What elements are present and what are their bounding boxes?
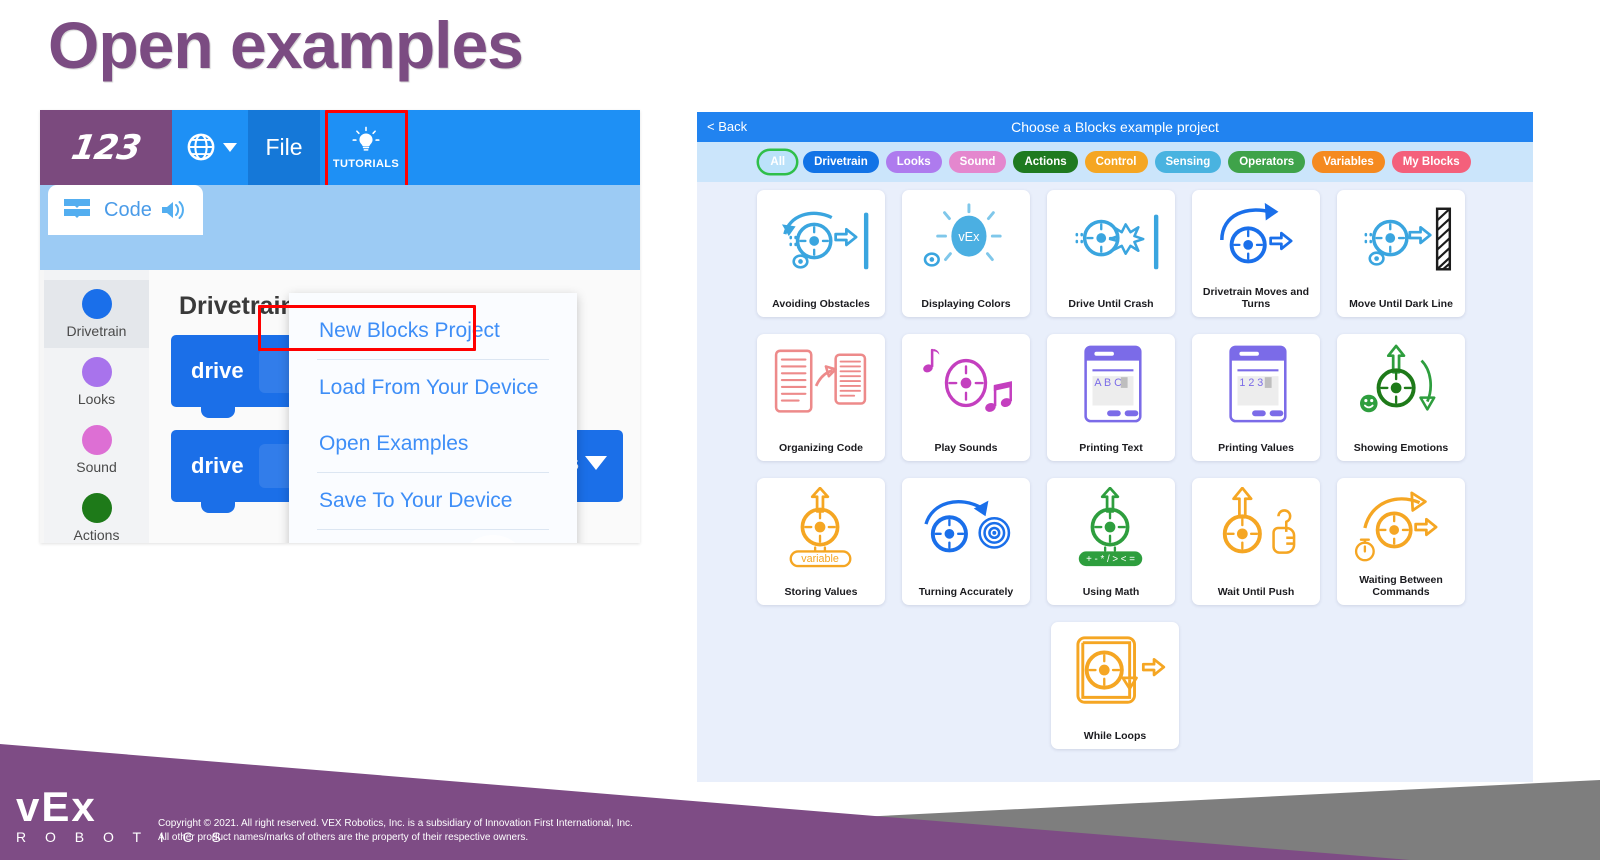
documents-arrow-red-icon (767, 343, 875, 425)
screen-123-icon: 1 2 3 (1202, 343, 1310, 425)
code-tab-label: Code (104, 199, 152, 222)
copyright-text: Copyright © 2021. All right reserved. VE… (158, 817, 633, 844)
filter-pill-variables[interactable]: Variables (1312, 151, 1385, 173)
menu-item-save-to-your-device[interactable]: Save To Your Device (289, 473, 577, 529)
blocks-icon (62, 197, 96, 223)
sidebar-item-label: Looks (78, 391, 115, 407)
math-chip-text: + - * / > < = (1086, 554, 1135, 565)
example-card-while-loops[interactable]: While Loops (1051, 622, 1179, 749)
example-card-label: Avoiding Obstacles (761, 298, 881, 310)
menu-item-label: Save To Your Device (319, 489, 512, 513)
robot-loop-orange-icon (1061, 631, 1169, 713)
robot-crash-blue-icon (1057, 199, 1165, 281)
speaker-icon (160, 199, 186, 221)
filter-pill-operators[interactable]: Operators (1228, 151, 1305, 173)
example-card-turning-accurately[interactable]: Turning Accurately (902, 478, 1030, 605)
example-card-label: Storing Values (761, 586, 881, 598)
robot-emoji-green-icon (1347, 343, 1455, 425)
vex-badge-rays-blue-icon: vEx (912, 199, 1020, 281)
screen-text: 1 2 3 (1239, 377, 1263, 389)
block-label: drive (191, 453, 244, 479)
example-card-drive-until-crash[interactable]: Drive Until Crash (1047, 190, 1175, 317)
menu-item-whats-new[interactable]: What's New (289, 530, 577, 543)
robot-arc-wall-blue-icon (767, 199, 875, 281)
menu-item-load-from-your-device[interactable]: Load From Your Device (289, 360, 577, 416)
vex-123-logo-text: 123 (68, 128, 143, 168)
dialog-title: Choose a Blocks example project (697, 112, 1533, 142)
example-card-organizing-code[interactable]: Organizing Code (757, 334, 885, 461)
sidebar-item-actions[interactable]: Actions (44, 484, 149, 543)
filter-pill-sound[interactable]: Sound (949, 151, 1007, 173)
example-card-using-math[interactable]: + - * / > < = Using Math (1047, 478, 1175, 605)
example-card-label: Waiting Between Commands (1341, 574, 1461, 598)
filter-pill-label: My Blocks (1403, 156, 1460, 168)
example-card-label: Drivetrain Moves and Turns (1196, 286, 1316, 310)
menu-item-label: Load From Your Device (319, 376, 538, 400)
tutorials-highlight-box (325, 110, 408, 188)
example-card-displaying-colors[interactable]: vEx Displaying (902, 190, 1030, 317)
sidebar-item-sound[interactable]: Sound (44, 416, 149, 484)
open-examples-highlight-box (258, 305, 476, 351)
robot-music-notes-icon (912, 343, 1020, 425)
language-selector[interactable] (186, 132, 237, 162)
sidebar-item-label: Drivetrain (67, 323, 127, 339)
sidebar-item-label: Sound (76, 459, 116, 475)
filter-pill-looks[interactable]: Looks (886, 151, 942, 173)
filter-pill-label: Actions (1024, 156, 1066, 168)
example-card-label: Showing Emotions (1341, 442, 1461, 454)
actions-dot-icon (82, 493, 112, 523)
example-card-label: Move Until Dark Line (1341, 298, 1461, 310)
example-card-label: Organizing Code (761, 442, 881, 454)
example-card-printing-values[interactable]: 1 2 3 Printing Values (1192, 334, 1320, 461)
filter-pill-label: Control (1096, 156, 1137, 168)
filter-pill-control[interactable]: Control (1085, 151, 1148, 173)
category-sidebar: Drivetrain Looks Sound Actions (44, 270, 149, 543)
filter-pill-label: Looks (897, 156, 931, 168)
example-card-label: Turning Accurately (906, 586, 1026, 598)
sidebar-item-looks[interactable]: Looks (44, 348, 149, 416)
examples-row: Avoiding Obstacles vEx (757, 190, 1533, 317)
slide-footer: vEx R O B O T I C S Copyright © 2021. Al… (0, 735, 1600, 860)
examples-grid: Avoiding Obstacles vEx (697, 182, 1533, 749)
file-menu-button[interactable]: File (248, 110, 320, 185)
filter-pill-my-blocks[interactable]: My Blocks (1392, 151, 1471, 173)
robot-target-blue-icon (912, 487, 1020, 569)
example-card-wait-until-push[interactable]: Wait Until Push (1192, 478, 1320, 605)
drivetrain-dot-icon (82, 289, 112, 319)
robot-dark-line-icon (1347, 199, 1455, 281)
copyright-line-2: All other product names/marks of others … (158, 831, 633, 845)
robot-hand-push-icon (1202, 487, 1310, 569)
example-card-avoiding-obstacles[interactable]: Avoiding Obstacles (757, 190, 885, 317)
example-card-label: Using Math (1051, 586, 1171, 598)
file-menu-label: File (265, 134, 302, 161)
filter-pill-label: Drivetrain (814, 156, 868, 168)
example-card-play-sounds[interactable]: Play Sounds (902, 334, 1030, 461)
block-label: drive (191, 358, 244, 384)
chevron-down-icon (223, 143, 237, 152)
example-card-label: Displaying Colors (906, 298, 1026, 310)
menu-item-label: Open Examples (319, 432, 468, 456)
menu-item-open-examples[interactable]: Open Examples (289, 416, 577, 472)
example-card-label: Wait Until Push (1196, 586, 1316, 598)
filter-pill-all[interactable]: All (759, 151, 796, 173)
example-card-storing-values[interactable]: variable Storing Values (757, 478, 885, 605)
examples-row: While Loops (757, 622, 1533, 749)
filter-pill-actions[interactable]: Actions (1013, 151, 1077, 173)
examples-dialog: < Back Choose a Blocks example project A… (697, 112, 1533, 782)
example-card-printing-text[interactable]: A B C Printing Text (1047, 334, 1175, 461)
filter-pill-label: Variables (1323, 156, 1374, 168)
filter-pill-label: All (770, 156, 785, 168)
example-card-waiting-between-commands[interactable]: Waiting Between Commands (1337, 478, 1465, 605)
code-tab[interactable]: Code (48, 185, 203, 235)
filter-pill-sensing[interactable]: Sensing (1155, 151, 1222, 173)
example-card-label: Play Sounds (906, 442, 1026, 454)
block-dropdown-caret-icon[interactable] (585, 456, 607, 470)
robot-variable-orange-icon: variable (767, 487, 875, 569)
examples-row: variable Storing Values (757, 478, 1533, 605)
category-filter-bar[interactable]: All Drivetrain Looks Sound Actions Contr… (697, 142, 1533, 182)
example-card-label: Drive Until Crash (1051, 298, 1171, 310)
dialog-header: < Back Choose a Blocks example project (697, 112, 1533, 142)
filter-pill-label: Sound (960, 156, 996, 168)
svg-text:vEx: vEx (958, 230, 980, 244)
robot-math-green-icon: + - * / > < = (1057, 487, 1165, 569)
screen-text: A B C (1094, 377, 1122, 389)
example-card-move-until-dark-line[interactable]: Move Until Dark Line (1337, 190, 1465, 317)
screen-abc-icon: A B C (1057, 343, 1165, 425)
robot-arrow-turn-blue-icon (1202, 199, 1310, 281)
copyright-line-1: Copyright © 2021. All right reserved. VE… (158, 817, 633, 831)
globe-icon (186, 132, 216, 162)
example-card-showing-emotions[interactable]: Showing Emotions (1337, 334, 1465, 461)
robot-timer-arrow-icon (1347, 487, 1455, 569)
example-card-label: Printing Values (1196, 442, 1316, 454)
vex-123-logo: 123 (40, 110, 172, 185)
filter-pill-drivetrain[interactable]: Drivetrain (803, 151, 879, 173)
variable-chip-text: variable (801, 553, 839, 565)
filter-pill-label: Sensing (1166, 156, 1211, 168)
page-title: Open examples (48, 12, 523, 78)
example-card-drivetrain-moves-and-turns[interactable]: Drivetrain Moves and Turns (1192, 190, 1320, 317)
looks-dot-icon (82, 357, 112, 387)
filter-pill-label: Operators (1239, 156, 1294, 168)
sidebar-item-drivetrain[interactable]: Drivetrain (44, 280, 149, 348)
vexcode-app-screenshot: 123 File (40, 110, 640, 543)
examples-row: Organizing Code (757, 334, 1533, 461)
sound-dot-icon (82, 425, 112, 455)
sidebar-item-label: Actions (74, 527, 120, 543)
app-toolbar: 123 File (40, 110, 640, 185)
example-card-label: Printing Text (1051, 442, 1171, 454)
